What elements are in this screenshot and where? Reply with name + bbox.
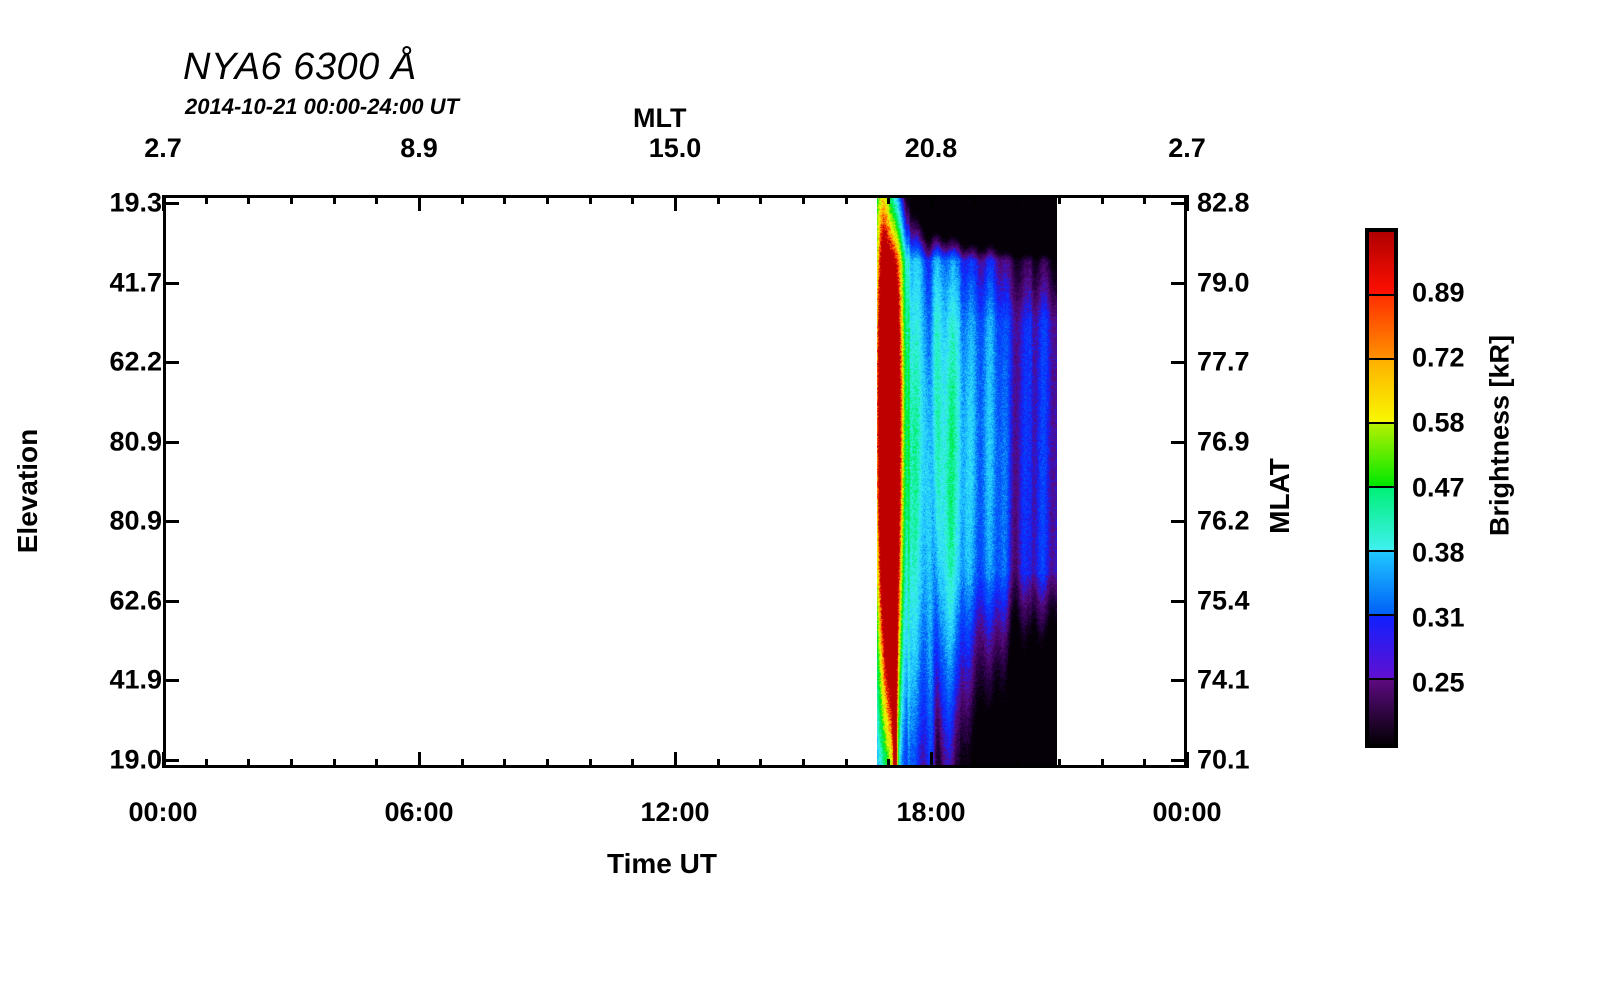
- bottom-tick-label: 06:00: [384, 797, 453, 828]
- top-minor-tick: [205, 195, 208, 204]
- right-tick-label: 70.1: [1197, 745, 1250, 776]
- top-minor-tick: [973, 195, 976, 204]
- top-minor-tick: [631, 195, 634, 204]
- top-minor-tick: [546, 195, 549, 204]
- bottom-minor-tick: [845, 759, 848, 768]
- right-tick-label: 74.1: [1197, 665, 1250, 696]
- left-tick-label: 80.9: [109, 506, 162, 537]
- top-major-tick: [418, 195, 421, 211]
- bottom-minor-tick: [802, 759, 805, 768]
- bottom-minor-tick: [375, 759, 378, 768]
- right-tick-label: 76.2: [1197, 506, 1250, 537]
- left-tick-label: 41.7: [109, 267, 162, 298]
- right-tick: [1171, 600, 1187, 603]
- bottom-minor-tick: [1058, 759, 1061, 768]
- bottom-minor-tick: [589, 759, 592, 768]
- top-minor-tick: [333, 195, 336, 204]
- left-tick-label: 41.9: [109, 665, 162, 696]
- colorbar-segment: [1369, 552, 1394, 616]
- page-subtitle: 2014-10-21 00:00-24:00 UT: [185, 94, 459, 120]
- right-tick-label: 75.4: [1197, 585, 1250, 616]
- bottom-tick-label: 18:00: [896, 797, 965, 828]
- right-tick: [1171, 441, 1187, 444]
- top-tick-label: 2.7: [144, 133, 182, 164]
- colorbar-segment: [1369, 616, 1394, 680]
- top-minor-tick: [589, 195, 592, 204]
- left-tick: [163, 282, 179, 285]
- left-tick: [163, 202, 179, 205]
- left-tick: [163, 600, 179, 603]
- bottom-minor-tick: [631, 759, 634, 768]
- bottom-tick-label: 00:00: [128, 797, 197, 828]
- left-tick: [163, 441, 179, 444]
- top-minor-tick: [802, 195, 805, 204]
- left-axis-name: Elevation: [12, 401, 44, 581]
- right-tick: [1171, 679, 1187, 682]
- right-tick-label: 77.7: [1197, 347, 1250, 378]
- bottom-minor-tick: [290, 759, 293, 768]
- top-axis-name: MLT: [633, 103, 686, 134]
- bottom-minor-tick: [973, 759, 976, 768]
- left-tick: [163, 679, 179, 682]
- top-tick-label: 2.7: [1168, 133, 1206, 164]
- bottom-minor-tick: [461, 759, 464, 768]
- top-minor-tick: [1143, 195, 1146, 204]
- bottom-minor-tick: [759, 759, 762, 768]
- top-tick-label: 15.0: [649, 133, 702, 164]
- keogram-image: [877, 198, 1057, 765]
- right-tick-label: 76.9: [1197, 426, 1250, 457]
- bottom-minor-tick: [333, 759, 336, 768]
- right-tick: [1171, 282, 1187, 285]
- bottom-axis-name: Time UT: [607, 848, 717, 880]
- colorbar-tick-label: 0.89: [1412, 278, 1465, 309]
- bottom-minor-tick: [503, 759, 506, 768]
- colorbar-segment: [1369, 296, 1394, 360]
- top-minor-tick: [717, 195, 720, 204]
- top-minor-tick: [759, 195, 762, 204]
- colorbar-segment: [1369, 360, 1394, 424]
- colorbar-tick-label: 0.72: [1412, 343, 1465, 374]
- left-tick-label: 19.0: [109, 745, 162, 776]
- top-major-tick: [930, 195, 933, 211]
- right-axis-name: MLAT: [1264, 416, 1296, 576]
- top-minor-tick: [1015, 195, 1018, 204]
- top-minor-tick: [845, 195, 848, 204]
- top-minor-tick: [1058, 195, 1061, 204]
- bottom-major-tick: [418, 752, 421, 768]
- right-tick: [1171, 361, 1187, 364]
- bottom-major-tick: [674, 752, 677, 768]
- colorbar-segment: [1369, 680, 1394, 744]
- top-tick-label: 8.9: [400, 133, 438, 164]
- colorbar: [1365, 228, 1398, 748]
- bottom-major-tick: [930, 752, 933, 768]
- top-minor-tick: [887, 195, 890, 204]
- top-minor-tick: [290, 195, 293, 204]
- colorbar-tick-label: 0.38: [1412, 538, 1465, 569]
- right-tick: [1171, 202, 1187, 205]
- bottom-minor-tick: [546, 759, 549, 768]
- top-minor-tick: [503, 195, 506, 204]
- right-tick-label: 82.8: [1197, 188, 1250, 219]
- top-minor-tick: [247, 195, 250, 204]
- colorbar-segment: [1369, 424, 1394, 488]
- colorbar-tick-label: 0.47: [1412, 473, 1465, 504]
- top-minor-tick: [461, 195, 464, 204]
- top-minor-tick: [375, 195, 378, 204]
- left-tick-label: 62.2: [109, 347, 162, 378]
- bottom-minor-tick: [1101, 759, 1104, 768]
- right-tick: [1171, 759, 1187, 762]
- right-tick-label: 79.0: [1197, 267, 1250, 298]
- bottom-minor-tick: [1143, 759, 1146, 768]
- top-major-tick: [674, 195, 677, 211]
- bottom-minor-tick: [887, 759, 890, 768]
- bottom-tick-label: 00:00: [1152, 797, 1221, 828]
- top-minor-tick: [1101, 195, 1104, 204]
- left-tick: [163, 520, 179, 523]
- bottom-minor-tick: [205, 759, 208, 768]
- colorbar-tick-label: 0.25: [1412, 668, 1465, 699]
- bottom-minor-tick: [717, 759, 720, 768]
- left-tick-label: 80.9: [109, 426, 162, 457]
- page-title: NYA6 6300 Å: [183, 46, 417, 89]
- bottom-minor-tick: [247, 759, 250, 768]
- left-tick-label: 62.6: [109, 585, 162, 616]
- top-tick-label: 20.8: [905, 133, 958, 164]
- colorbar-tick-label: 0.31: [1412, 603, 1465, 634]
- left-tick-label: 19.3: [109, 188, 162, 219]
- colorbar-label: Brightness [kR]: [1485, 316, 1516, 556]
- colorbar-segment: [1369, 232, 1394, 296]
- colorbar-segment: [1369, 488, 1394, 552]
- left-tick: [163, 361, 179, 364]
- colorbar-tick-label: 0.58: [1412, 408, 1465, 439]
- right-tick: [1171, 520, 1187, 523]
- left-tick: [163, 759, 179, 762]
- bottom-tick-label: 12:00: [640, 797, 709, 828]
- bottom-minor-tick: [1015, 759, 1018, 768]
